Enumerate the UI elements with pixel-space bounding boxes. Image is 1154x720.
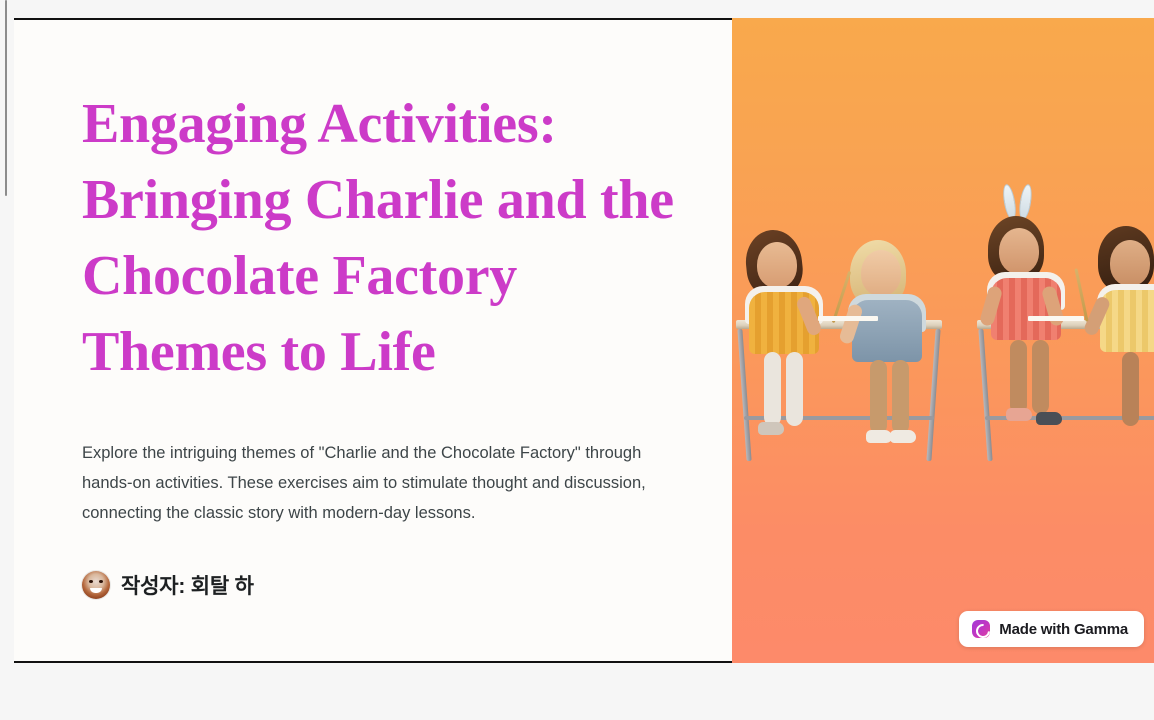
slide-text-panel: Engaging Activities: Bringing Charlie an… <box>14 18 732 663</box>
leg <box>1122 352 1139 426</box>
author-name: 작성자: 회탈 하 <box>121 570 254 600</box>
paper <box>818 316 878 321</box>
leg <box>1010 340 1027 414</box>
slide-title: Engaging Activities: Bringing Charlie an… <box>82 86 680 390</box>
made-with-gamma-badge[interactable]: Made with Gamma <box>959 611 1144 647</box>
page-scrollbar-track[interactable] <box>0 0 14 720</box>
presentation-slide: Engaging Activities: Bringing Charlie an… <box>14 18 1154 663</box>
leg <box>870 360 887 434</box>
shoe <box>866 430 892 443</box>
bunny-ear <box>1017 183 1033 220</box>
gamma-logo-icon <box>972 620 990 638</box>
desk-leg <box>978 329 992 461</box>
author-byline: 작성자: 회탈 하 <box>82 570 680 600</box>
shoe <box>1036 412 1062 425</box>
gamma-badge-label: Made with Gamma <box>999 621 1128 638</box>
shoe <box>758 422 784 435</box>
head <box>757 242 797 288</box>
head <box>1110 240 1150 286</box>
slide-image-panel: Made with Gamma <box>732 18 1154 663</box>
slide-subtitle: Explore the intriguing themes of "Charli… <box>82 438 662 528</box>
paper <box>1028 316 1084 321</box>
shoe <box>890 430 916 443</box>
leg <box>1032 340 1049 414</box>
page-scrollbar-thumb[interactable] <box>5 0 7 196</box>
head <box>861 250 901 296</box>
dress <box>852 300 922 362</box>
bunny-ears-headband <box>1002 184 1036 220</box>
leg <box>786 352 803 426</box>
desk-leg <box>926 329 940 461</box>
pencil <box>1074 268 1088 321</box>
head <box>999 228 1039 274</box>
avatar <box>82 571 110 599</box>
leg <box>892 360 909 434</box>
shoe <box>1006 408 1032 421</box>
leg <box>764 352 781 426</box>
